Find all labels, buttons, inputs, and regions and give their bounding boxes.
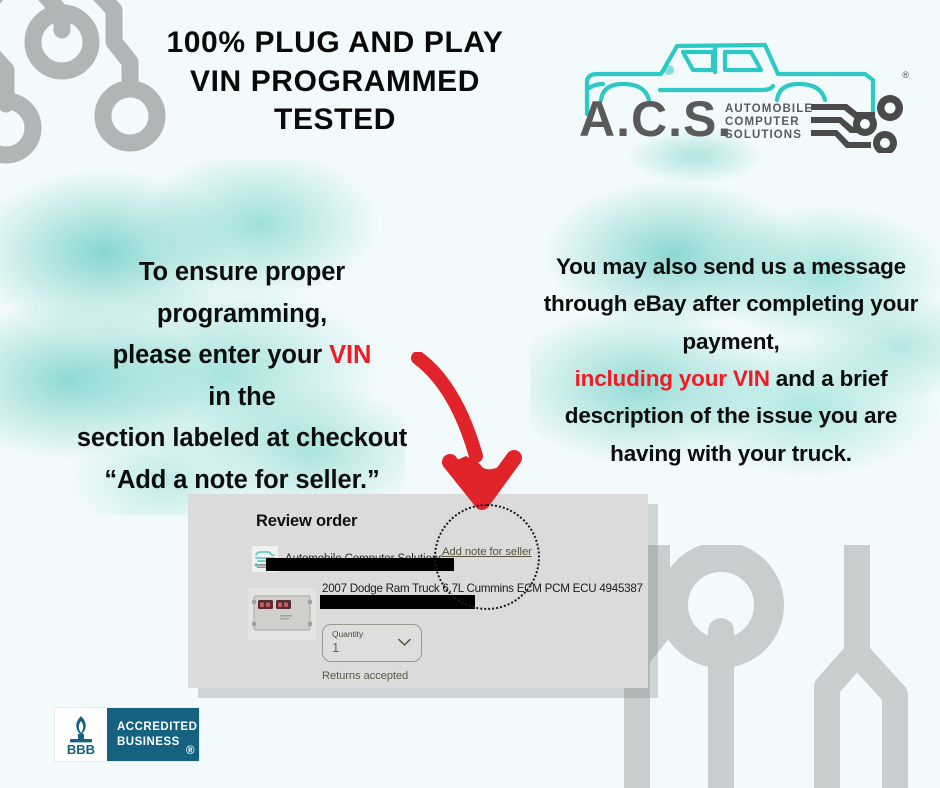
- bbb-text-area: ACCREDITED BUSINESS ®: [107, 708, 199, 761]
- headline-line-1: 100% PLUG AND PLAY: [100, 24, 570, 63]
- review-order-title: Review order: [256, 512, 357, 531]
- bbb-registered-mark-icon: ®: [186, 744, 195, 759]
- quantity-select[interactable]: Quantity 1: [322, 624, 422, 662]
- copy-left-line-3: please enter your VIN: [22, 335, 462, 377]
- bbb-line-1: ACCREDITED: [117, 720, 199, 735]
- copy-left-vin-highlight: VIN: [329, 341, 371, 369]
- copy-right-line-1: You may also send us a message: [526, 248, 936, 285]
- dotted-highlight-circle: [434, 504, 540, 610]
- copy-left-line-1: To ensure proper: [22, 252, 462, 294]
- quantity-value: 1: [332, 640, 339, 655]
- copy-left-block: To ensure proper programming, please ent…: [22, 252, 462, 501]
- redaction-bar-seller: [266, 558, 454, 571]
- copy-right-line-2: through eBay after completing your: [526, 285, 936, 322]
- copy-right-line-4: including your VIN and a brief: [526, 360, 936, 397]
- copy-right-vin-highlight: including your VIN: [575, 366, 770, 391]
- banner-canvas: 100% PLUG AND PLAY VIN PROGRAMMED TESTED…: [0, 0, 940, 788]
- copy-left-line-4: in the: [22, 377, 462, 419]
- quantity-label: Quantity: [332, 629, 363, 639]
- headline-line-2: VIN PROGRAMMED: [100, 63, 570, 102]
- copy-right-line-3: payment,: [526, 323, 936, 360]
- copy-left-line-5: section labeled at checkout: [22, 418, 462, 460]
- svg-text:AUTOMOBILE: AUTOMOBILE: [725, 103, 813, 115]
- returns-accepted-text: Returns accepted: [322, 670, 408, 682]
- acs-logo: A.C.S. AUTOMOBILE COMPUTER SOLUTIONS ®: [565, 28, 915, 153]
- chevron-down-icon: [398, 638, 411, 647]
- copy-right-line-6: having with your truck.: [526, 435, 936, 472]
- copy-right-line-4-text: and a brief: [770, 366, 888, 391]
- truck-mirror-icon: [664, 65, 674, 75]
- acs-wordmark: A.C.S.: [579, 91, 732, 147]
- bbb-accredited-business-badge[interactable]: BBB ACCREDITED BUSINESS ®: [54, 707, 200, 762]
- copy-left-line-3-text: please enter your: [113, 341, 329, 369]
- acs-logo-graphic: A.C.S. AUTOMOBILE COMPUTER SOLUTIONS: [565, 28, 915, 153]
- copy-right-line-5: description of the issue you are: [526, 397, 936, 434]
- product-thumbnail-ecm-module[interactable]: [248, 588, 316, 640]
- svg-text:SOLUTIONS: SOLUTIONS: [725, 129, 802, 141]
- copy-left-line-2: programming,: [22, 294, 462, 336]
- bbb-logo-area: BBB: [55, 708, 107, 761]
- bbb-torch-icon: BBB: [60, 713, 102, 757]
- headline-block: 100% PLUG AND PLAY VIN PROGRAMMED TESTED: [100, 24, 570, 140]
- copy-right-block: You may also send us a message through e…: [526, 248, 936, 472]
- registered-mark-icon: ®: [902, 70, 909, 80]
- logo-circuit-icon: [811, 95, 903, 153]
- svg-text:COMPUTER: COMPUTER: [725, 116, 800, 128]
- bbb-acronym: BBB: [67, 742, 95, 757]
- headline-line-3: TESTED: [100, 101, 570, 140]
- acs-tagline: AUTOMOBILE COMPUTER SOLUTIONS: [725, 103, 813, 141]
